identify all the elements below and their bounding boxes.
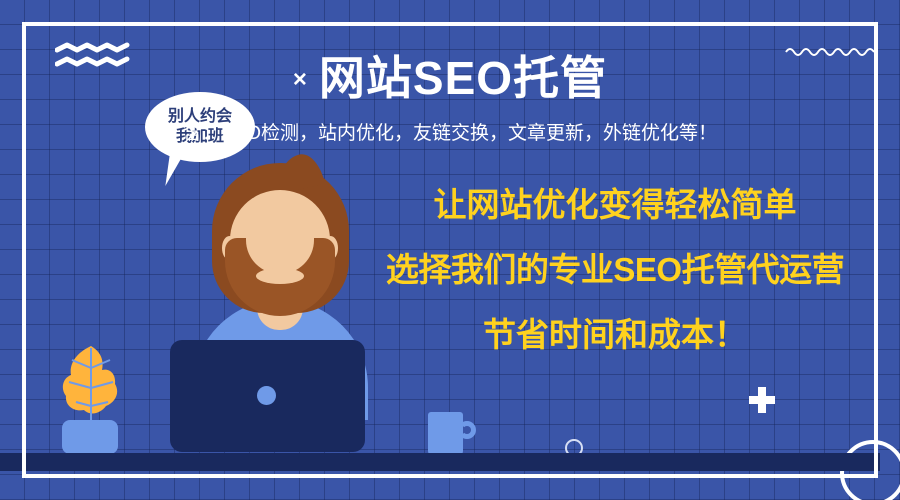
plant-leaf-icon — [60, 344, 122, 426]
laptop-logo-dot — [257, 386, 276, 405]
title-text: 网站SEO托管 — [319, 52, 607, 104]
poster-canvas: 别人约会 我加班 ×网站SEO托管 含：SEO检测，站内优化，友链交换，文章更新… — [0, 0, 900, 500]
headline-line-1: 让网站优化变得轻松简单 — [330, 188, 900, 221]
page-title: ×网站SEO托管 — [0, 42, 900, 108]
title-x-mark: × — [293, 66, 307, 93]
coffee-mug — [428, 412, 463, 456]
desk-surface — [30, 453, 880, 471]
coffee-mug-handle — [458, 421, 476, 439]
headline-line-2: 选择我们的专业SEO托管代运营 — [330, 253, 900, 286]
plus-mark-icon — [749, 387, 775, 413]
plant-pot — [62, 420, 118, 454]
headline-group: 让网站优化变得轻松简单 选择我们的专业SEO托管代运营 节省时间和成本！ — [330, 188, 900, 383]
person-mouth — [256, 268, 304, 284]
headline-line-3: 节省时间和成本！ — [330, 318, 900, 351]
page-subtitle: 含：SEO检测，站内优化，友链交换，文章更新，外链优化等！ — [0, 118, 900, 145]
